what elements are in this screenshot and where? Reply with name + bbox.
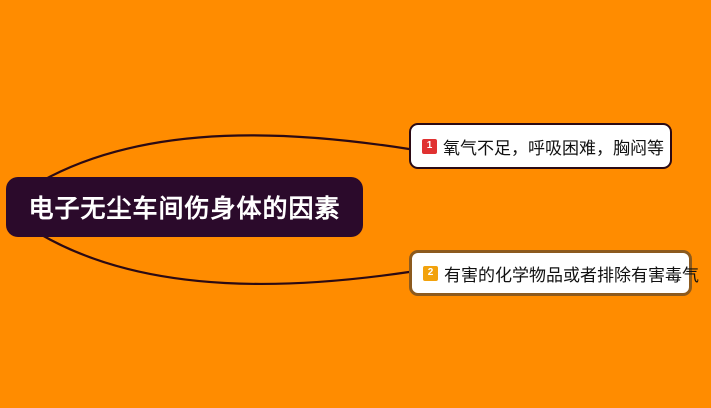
connector-root-to-node-1: [40, 135, 409, 182]
child-node-1-badge: 1: [422, 139, 437, 154]
child-node-1-label: 氧气不足，呼吸困难，胸闷等: [443, 134, 664, 159]
child-node-2-badge: 2: [423, 266, 438, 281]
child-node-2-label: 有害的化学物品或者排除有害毒气: [444, 261, 699, 286]
root-node-label: 电子无尘车间伤身体的因素: [28, 189, 340, 225]
child-node-2[interactable]: 2 有害的化学物品或者排除有害毒气: [409, 250, 692, 296]
mindmap-canvas: 电子无尘车间伤身体的因素 1 氧气不足，呼吸困难，胸闷等 2 有害的化学物品或者…: [0, 0, 711, 408]
root-node[interactable]: 电子无尘车间伤身体的因素: [6, 177, 363, 237]
child-node-1[interactable]: 1 氧气不足，呼吸困难，胸闷等: [409, 123, 672, 169]
connector-root-to-node-2: [40, 234, 409, 284]
